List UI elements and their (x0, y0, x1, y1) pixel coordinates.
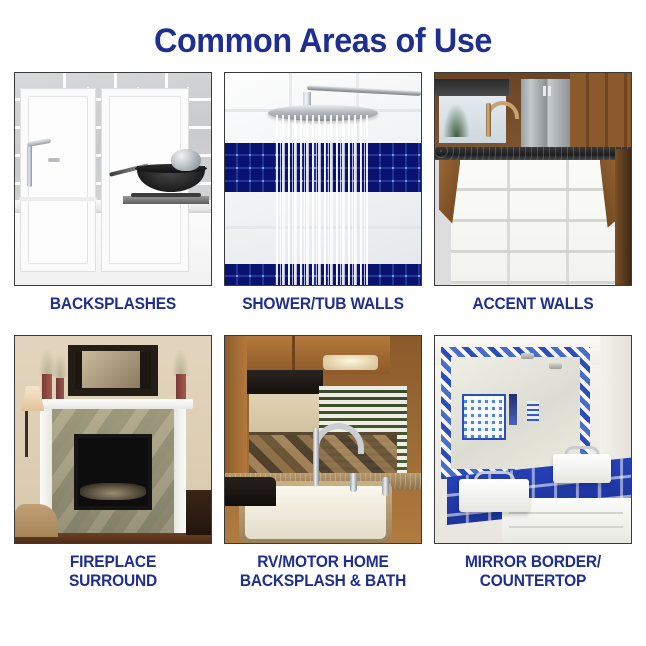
panel-rv-motor-home[interactable]: RV/MOTOR HOME BACKSPLASH & BATH (224, 335, 422, 590)
kettle (171, 149, 201, 171)
sink-edge (19, 197, 97, 201)
burner-grate (131, 193, 201, 197)
drawer-line-2 (509, 526, 623, 528)
cabinet-side-panel (615, 149, 631, 285)
subway-tile-island-face (451, 160, 616, 285)
infographic-page: Common Areas of Use (0, 0, 646, 646)
fire-logs (80, 483, 147, 500)
floral-spray-left-2 (52, 353, 68, 378)
photo-backsplashes[interactable] (14, 72, 212, 286)
armchair (15, 504, 58, 537)
mantel-leg-right (174, 409, 186, 535)
faucet-body-icon (486, 103, 491, 137)
window-valance (435, 79, 509, 96)
photo-mirror-border-countertop[interactable] (434, 335, 632, 544)
cooktop (123, 196, 209, 204)
panel-mirror-border-countertop[interactable]: MIRROR BORDER/ COUNTERTOP (434, 335, 632, 590)
panel-label-accent-walls: ACCENT WALLS (440, 295, 626, 313)
plant (443, 103, 470, 137)
vase-right (176, 374, 186, 399)
fridge-handle-left (543, 86, 546, 95)
panel-grid: BACKSPLASHES SHOWER/TUB WALLS (0, 72, 646, 590)
cabinet-seam (292, 336, 295, 373)
vessel-sink-right (553, 454, 612, 483)
photo-rv-motor-home[interactable] (224, 335, 422, 544)
vase-left-2 (56, 378, 64, 399)
photo-shower-tub-walls[interactable] (224, 72, 422, 286)
faucet-handle-left (350, 473, 357, 492)
panel-label-shower-tub-walls: SHOWER/TUB WALLS (230, 295, 416, 313)
under-cabinet-light (323, 355, 378, 369)
refrigerator (521, 79, 570, 147)
granite-countertop (435, 147, 631, 160)
vanity-light-2 (549, 363, 562, 369)
faucet-body-icon (27, 145, 32, 187)
floral-spray-right (172, 349, 190, 376)
mirror-glass (82, 351, 141, 388)
fridge-handle-right (548, 86, 551, 95)
side-table (186, 490, 211, 536)
page-title: Common Areas of Use (16, 22, 630, 61)
wood-cabinets (570, 73, 631, 149)
panel-backsplashes[interactable]: BACKSPLASHES (14, 72, 212, 313)
faucet-handle-right (382, 477, 389, 496)
panel-shower-tub-walls[interactable]: SHOWER/TUB WALLS (224, 72, 422, 313)
vase-left (42, 374, 52, 399)
vessel-sink-left (459, 479, 530, 512)
panel-accent-walls[interactable]: ACCENT WALLS (434, 72, 632, 313)
cooktop (225, 477, 276, 506)
faucet-handle-icon (48, 158, 60, 162)
water-stream-inner (280, 124, 366, 285)
panel-label-backsplashes: BACKSPLASHES (20, 295, 206, 313)
cabinet-left-panel (225, 336, 247, 481)
panel-row-2: FIREPLACE SURROUND (0, 335, 646, 590)
wall-lamp-arm (25, 411, 28, 457)
mantel-shelf (37, 399, 194, 409)
faucet-body-icon (313, 428, 319, 486)
panel-row-1: BACKSPLASHES SHOWER/TUB WALLS (0, 72, 646, 313)
panel-label-mirror-border-countertop: MIRROR BORDER/ COUNTERTOP (440, 553, 626, 590)
panel-fireplace-surround[interactable]: FIREPLACE SURROUND (14, 335, 212, 590)
photo-fireplace-surround[interactable] (14, 335, 212, 544)
panel-label-fireplace-surround: FIREPLACE SURROUND (20, 553, 206, 590)
vanity-light-1 (521, 353, 534, 359)
panel-label-rv-motor-home: RV/MOTOR HOME BACKSPLASH & BATH (230, 553, 416, 590)
photo-accent-walls[interactable] (434, 72, 632, 286)
